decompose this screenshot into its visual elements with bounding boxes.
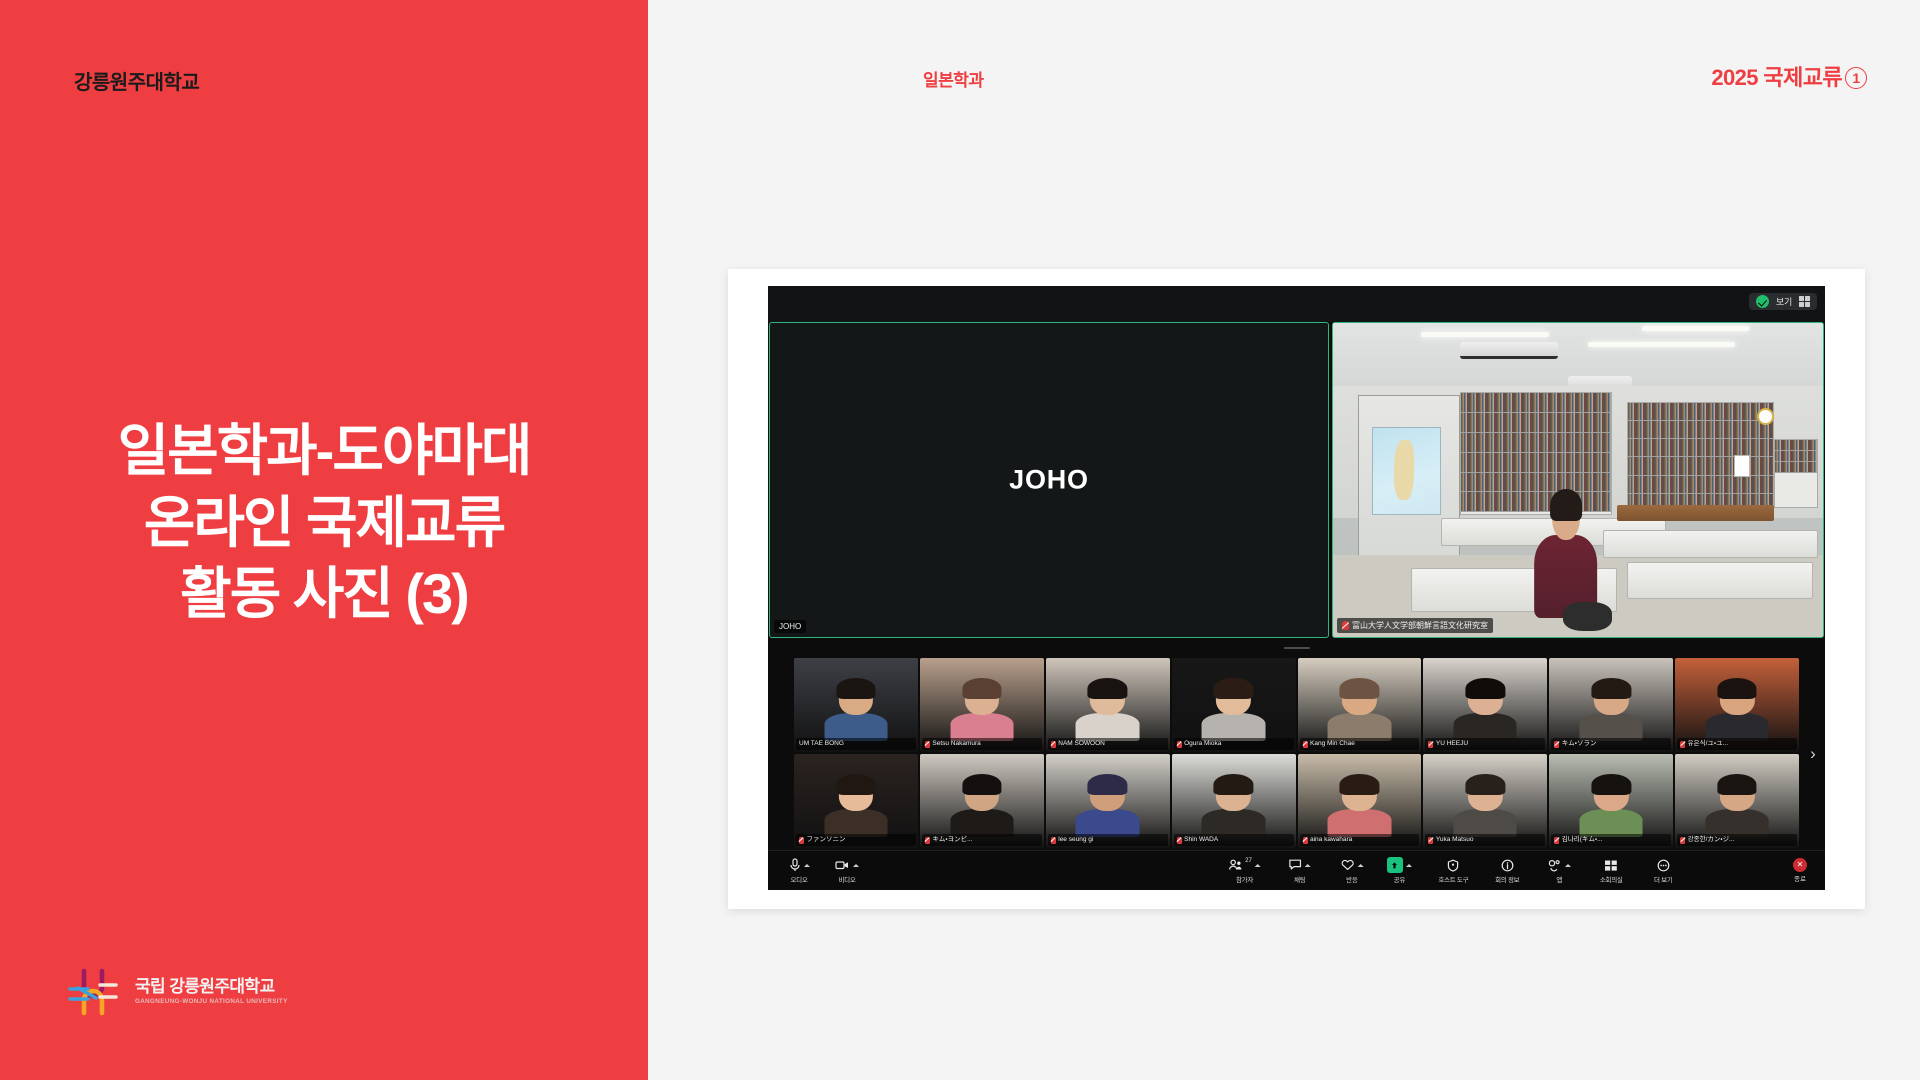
bookshelf bbox=[1627, 402, 1774, 515]
participant-name-tag: lee seung gi bbox=[1048, 834, 1168, 846]
toolbar-reactions-button[interactable]: 반응 bbox=[1339, 857, 1365, 884]
participant-name: Setsu Nakamura bbox=[932, 739, 980, 749]
toolbar-video-button[interactable]: 비디오 bbox=[834, 857, 860, 884]
participant-name-tag: Kang Min Chae bbox=[1300, 738, 1420, 750]
toolbar-apps-label: 앱 bbox=[1556, 874, 1562, 884]
wall-map bbox=[1372, 427, 1441, 515]
participant-name-tag: 김나리(キム・... bbox=[1551, 834, 1671, 846]
mic-muted-icon bbox=[925, 837, 930, 844]
participant-tiles-grid: UM TAE BONGSetsu NakamuraNAM SOWOONOgura… bbox=[794, 658, 1799, 850]
chevron-up-icon[interactable] bbox=[1406, 864, 1412, 867]
series-label: 2025 국제교류1 bbox=[1711, 60, 1867, 92]
stage-resize-handle[interactable] bbox=[768, 638, 1825, 658]
ceiling-light bbox=[1588, 342, 1735, 347]
room-tile-participant-name: 富山大学人文学部朝鮮言語文化研究室 bbox=[1352, 620, 1488, 631]
page-title: 일본학과-도야마대 온라인 국제교류 활동 사진 (3) bbox=[0, 415, 648, 630]
title-line-2: 온라인 국제교류 bbox=[0, 487, 648, 559]
toolbar-breakout-rooms-label: 소회의실 bbox=[1600, 874, 1623, 884]
wall-calendar bbox=[1734, 455, 1750, 477]
left-accent-panel: 강릉원주대학교 일본학과-도야마대 온라인 국제교류 활동 사진 (3) bbox=[0, 0, 648, 1080]
toolbar-host-tools-label: 호스트 도구 bbox=[1438, 874, 1468, 884]
participant-name: キム・ヨンビ... bbox=[932, 835, 972, 845]
toolbar-share-label: 공유 bbox=[1394, 874, 1405, 884]
toolbar-apps-button[interactable]: 앱 bbox=[1546, 857, 1572, 884]
participant-avatar bbox=[1586, 778, 1636, 836]
participant-tile[interactable]: ファンソニン bbox=[794, 754, 918, 848]
camera-icon bbox=[835, 859, 850, 871]
participant-tile[interactable]: lee seung gi bbox=[1046, 754, 1170, 848]
mic-muted-icon bbox=[1051, 741, 1056, 748]
desk bbox=[1627, 562, 1813, 600]
shared-screen-title: JOHO bbox=[770, 465, 1328, 496]
mic-muted-icon bbox=[1303, 741, 1308, 748]
shared-screen-participant-name: JOHO bbox=[779, 622, 801, 631]
air-conditioner bbox=[1460, 342, 1558, 359]
participant-name: NAM SOWOON bbox=[1058, 739, 1105, 749]
participant-name-tag: キム・ヨンビ... bbox=[922, 834, 1042, 846]
mic-muted-icon bbox=[1428, 837, 1433, 844]
mic-muted-icon bbox=[1554, 741, 1559, 748]
participant-avatar bbox=[1586, 682, 1636, 740]
mic-muted-icon bbox=[1680, 741, 1685, 748]
participant-name-tag: Setsu Nakamura bbox=[922, 738, 1042, 750]
participant-avatar bbox=[1209, 778, 1259, 836]
ceiling-light bbox=[1421, 332, 1548, 337]
end-meeting-label: 종료 bbox=[1794, 873, 1806, 883]
participant-tile[interactable]: キム・ソラン bbox=[1549, 658, 1673, 752]
toolbar-more-label: 더 보기 bbox=[1654, 874, 1673, 884]
series-text: 2025 국제교류 bbox=[1711, 65, 1842, 90]
participant-avatar bbox=[1461, 682, 1511, 740]
reactions-heart-icon bbox=[1340, 859, 1354, 871]
department-label: 일본학과 bbox=[923, 66, 984, 91]
participant-name: YU HEEJU bbox=[1436, 739, 1468, 749]
mic-muted-icon bbox=[1177, 741, 1182, 748]
participant-name: Yuka Matsuo bbox=[1436, 835, 1474, 845]
logo-english-name: GANGNEUNG-WONJU NATIONAL UNIVERSITY bbox=[135, 999, 288, 1006]
participant-name: 강종한/カン・ジ... bbox=[1688, 835, 1735, 845]
participant-name: ファンソニン bbox=[807, 835, 846, 845]
toolbar-more-button[interactable]: 더 보기 bbox=[1650, 857, 1676, 884]
more-options-icon bbox=[1657, 859, 1670, 872]
participant-name: Ogura Mioka bbox=[1184, 739, 1221, 749]
toolbar-right-group: 공유 호스트 도구 회의 정보 bbox=[1386, 857, 1676, 884]
toolbar-audio-button[interactable]: 오디오 bbox=[786, 857, 812, 884]
participant-name-tag: キム・ソラン bbox=[1551, 738, 1671, 750]
mic-muted-icon bbox=[1428, 741, 1433, 748]
mic-muted-icon bbox=[1303, 837, 1308, 844]
participant-tile[interactable]: 유은식/ユ・ユ... bbox=[1675, 658, 1799, 752]
chat-icon bbox=[1289, 859, 1302, 871]
participant-avatar bbox=[957, 682, 1007, 740]
bookshelf bbox=[1774, 439, 1818, 508]
participants-icon bbox=[1228, 859, 1242, 871]
participants-filmstrip: UM TAE BONGSetsu NakamuraNAM SOWOONOgura… bbox=[768, 658, 1825, 850]
shared-screen-name-tag: JOHO bbox=[774, 620, 806, 633]
microphone-icon bbox=[789, 858, 801, 872]
toolbar-center-group: 27 참가자 채팅 bbox=[1228, 857, 1365, 884]
logo-mark-icon bbox=[62, 961, 124, 1023]
logo-wordmark: 국립 강릉원주대학교 GANGNEUNG-WONJU NATIONAL UNIV… bbox=[135, 978, 288, 1006]
toolbar-participants-label: 참가자 bbox=[1236, 874, 1253, 884]
end-meeting-button[interactable]: ✕ 종료 bbox=[1793, 858, 1807, 883]
end-meeting-icon: ✕ bbox=[1793, 858, 1807, 872]
zoom-toolbar: 오디오 비디오 27 bbox=[768, 850, 1825, 890]
mic-muted-icon bbox=[1177, 837, 1182, 844]
green-shield-check-icon bbox=[1756, 295, 1769, 308]
participant-tile[interactable]: Kang Min Chae bbox=[1298, 658, 1422, 752]
participants-count: 27 bbox=[1245, 858, 1252, 864]
participant-tile[interactable]: Shin WADA bbox=[1172, 754, 1296, 848]
toolbar-reactions-label: 반응 bbox=[1346, 874, 1357, 884]
wooden-table bbox=[1617, 505, 1774, 521]
participant-avatar bbox=[1209, 682, 1259, 740]
toolbar-share-button[interactable]: 공유 bbox=[1386, 857, 1412, 884]
participant-avatar bbox=[1712, 778, 1762, 836]
participant-tile[interactable]: aina kawahara bbox=[1298, 754, 1422, 848]
chevron-up-icon[interactable] bbox=[804, 864, 810, 867]
participant-tile[interactable]: UM TAE BONG bbox=[794, 658, 918, 752]
participant-name-tag: Yuka Matsuo bbox=[1425, 834, 1545, 846]
title-line-3: 활동 사진 (3) bbox=[0, 558, 648, 630]
zoom-topbar: 보기 bbox=[768, 286, 1825, 322]
participant-avatar bbox=[1335, 778, 1385, 836]
share-screen-icon bbox=[1387, 857, 1403, 873]
chevron-up-icon[interactable] bbox=[1565, 864, 1571, 867]
toolbar-chat-label: 채팅 bbox=[1294, 874, 1305, 884]
host-tools-shield-icon bbox=[1447, 859, 1459, 872]
participant-avatar bbox=[1335, 682, 1385, 740]
university-name: 강릉원주대학교 bbox=[74, 66, 199, 95]
chevron-up-icon[interactable] bbox=[1305, 864, 1311, 867]
view-control[interactable]: 보기 bbox=[1749, 293, 1817, 310]
zoom-stage: JOHO JOHO bbox=[768, 322, 1825, 638]
title-line-1: 일본학과-도야마대 bbox=[0, 415, 648, 487]
participant-avatar bbox=[831, 778, 881, 836]
university-logo: 국립 강릉원주대학교 GANGNEUNG-WONJU NATIONAL UNIV… bbox=[62, 961, 288, 1023]
participant-name: aina kawahara bbox=[1310, 835, 1352, 845]
room-video-tile[interactable]: 富山大学人文学部朝鮮言語文化研究室 bbox=[1332, 322, 1824, 638]
participant-avatar bbox=[957, 778, 1007, 836]
grid-icon bbox=[1799, 296, 1810, 307]
participant-name: キム・ソラン bbox=[1562, 739, 1597, 749]
toolbar-end-group: ✕ 종료 bbox=[1793, 858, 1807, 883]
participant-avatar bbox=[1083, 778, 1133, 836]
participant-tile[interactable]: Setsu Nakamura bbox=[920, 658, 1044, 752]
participant-name: 김나리(キム・... bbox=[1562, 835, 1603, 845]
participant-name-tag: ファンソニン bbox=[796, 834, 916, 846]
mic-muted-icon bbox=[1680, 837, 1685, 844]
participant-name-tag: Ogura Mioka bbox=[1174, 738, 1294, 750]
participant-avatar bbox=[1461, 778, 1511, 836]
participant-tile[interactable]: Ogura Mioka bbox=[1172, 658, 1296, 752]
participant-name-tag: aina kawahara bbox=[1300, 834, 1420, 846]
participant-tile[interactable]: Yuka Matsuo bbox=[1423, 754, 1547, 848]
participant-name-tag: Shin WADA bbox=[1174, 834, 1294, 846]
participant-tile[interactable]: キム・ヨンビ... bbox=[920, 754, 1044, 848]
participant-tile[interactable]: YU HEEJU bbox=[1423, 658, 1547, 752]
chevron-up-icon[interactable] bbox=[1357, 864, 1363, 867]
participant-name: UM TAE BONG bbox=[799, 739, 844, 749]
conference-speaker-device bbox=[1563, 602, 1612, 630]
zoom-meeting-window: 보기 JOHO JOHO bbox=[768, 286, 1825, 890]
toolbar-left-group: 오디오 비디오 bbox=[786, 857, 860, 884]
view-label: 보기 bbox=[1776, 295, 1792, 308]
wall-clock bbox=[1757, 408, 1774, 425]
chevron-right-icon[interactable]: › bbox=[1805, 741, 1821, 767]
series-number-badge: 1 bbox=[1845, 67, 1867, 89]
ceiling-light bbox=[1642, 326, 1750, 331]
desk bbox=[1603, 530, 1819, 558]
participant-name: 유은식/ユ・ユ... bbox=[1688, 739, 1728, 749]
participant-name-tag: 강종한/カン・ジ... bbox=[1677, 834, 1797, 846]
toolbar-chat-button[interactable]: 채팅 bbox=[1287, 857, 1313, 884]
apps-icon bbox=[1548, 859, 1562, 872]
participant-tile[interactable]: NAM SOWOON bbox=[1046, 658, 1170, 752]
participant-name: Shin WADA bbox=[1184, 835, 1218, 845]
chevron-up-icon[interactable] bbox=[1255, 864, 1261, 867]
mic-muted-icon bbox=[1554, 837, 1559, 844]
breakout-rooms-icon bbox=[1604, 859, 1618, 872]
screenshot-card: 보기 JOHO JOHO bbox=[728, 269, 1865, 909]
participant-tile[interactable]: 강종한/カン・ジ... bbox=[1675, 754, 1799, 848]
logo-korean-name: 국립 강릉원주대학교 bbox=[135, 978, 288, 997]
mic-muted-icon bbox=[1051, 837, 1056, 844]
toolbar-audio-label: 오디오 bbox=[790, 874, 807, 884]
mic-muted-icon bbox=[1342, 621, 1349, 630]
participant-avatar bbox=[1083, 682, 1133, 740]
participant-tile[interactable]: 김나리(キム・... bbox=[1549, 754, 1673, 848]
chevron-up-icon[interactable] bbox=[853, 864, 859, 867]
shared-screen-pane[interactable]: JOHO JOHO bbox=[769, 322, 1329, 638]
participant-name: Kang Min Chae bbox=[1310, 739, 1355, 749]
meeting-info-icon bbox=[1501, 859, 1514, 872]
mic-muted-icon bbox=[925, 741, 930, 748]
toolbar-meeting-info-button[interactable]: 회의 정보 bbox=[1494, 857, 1520, 884]
presentation-slide: 강릉원주대학교 일본학과-도야마대 온라인 국제교류 활동 사진 (3) bbox=[0, 0, 1920, 1080]
participant-name-tag: YU HEEJU bbox=[1425, 738, 1545, 750]
participant-in-room bbox=[1534, 493, 1598, 619]
room-tile-name-tag: 富山大学人文学部朝鮮言語文化研究室 bbox=[1337, 618, 1493, 633]
mic-muted-icon bbox=[799, 837, 804, 844]
participant-name: lee seung gi bbox=[1058, 835, 1093, 845]
participant-name-tag: NAM SOWOON bbox=[1048, 738, 1168, 750]
participant-name-tag: UM TAE BONG bbox=[796, 738, 916, 750]
toolbar-participants-button[interactable]: 27 참가자 bbox=[1228, 857, 1261, 884]
participant-avatar bbox=[1712, 682, 1762, 740]
toolbar-video-label: 비디오 bbox=[838, 874, 855, 884]
toolbar-host-tools-button[interactable]: 호스트 도구 bbox=[1438, 857, 1468, 884]
toolbar-breakout-rooms-button[interactable]: 소회의실 bbox=[1598, 857, 1624, 884]
toolbar-meeting-info-label: 회의 정보 bbox=[1495, 874, 1519, 884]
participant-avatar bbox=[831, 682, 881, 740]
participant-name-tag: 유은식/ユ・ユ... bbox=[1677, 738, 1797, 750]
